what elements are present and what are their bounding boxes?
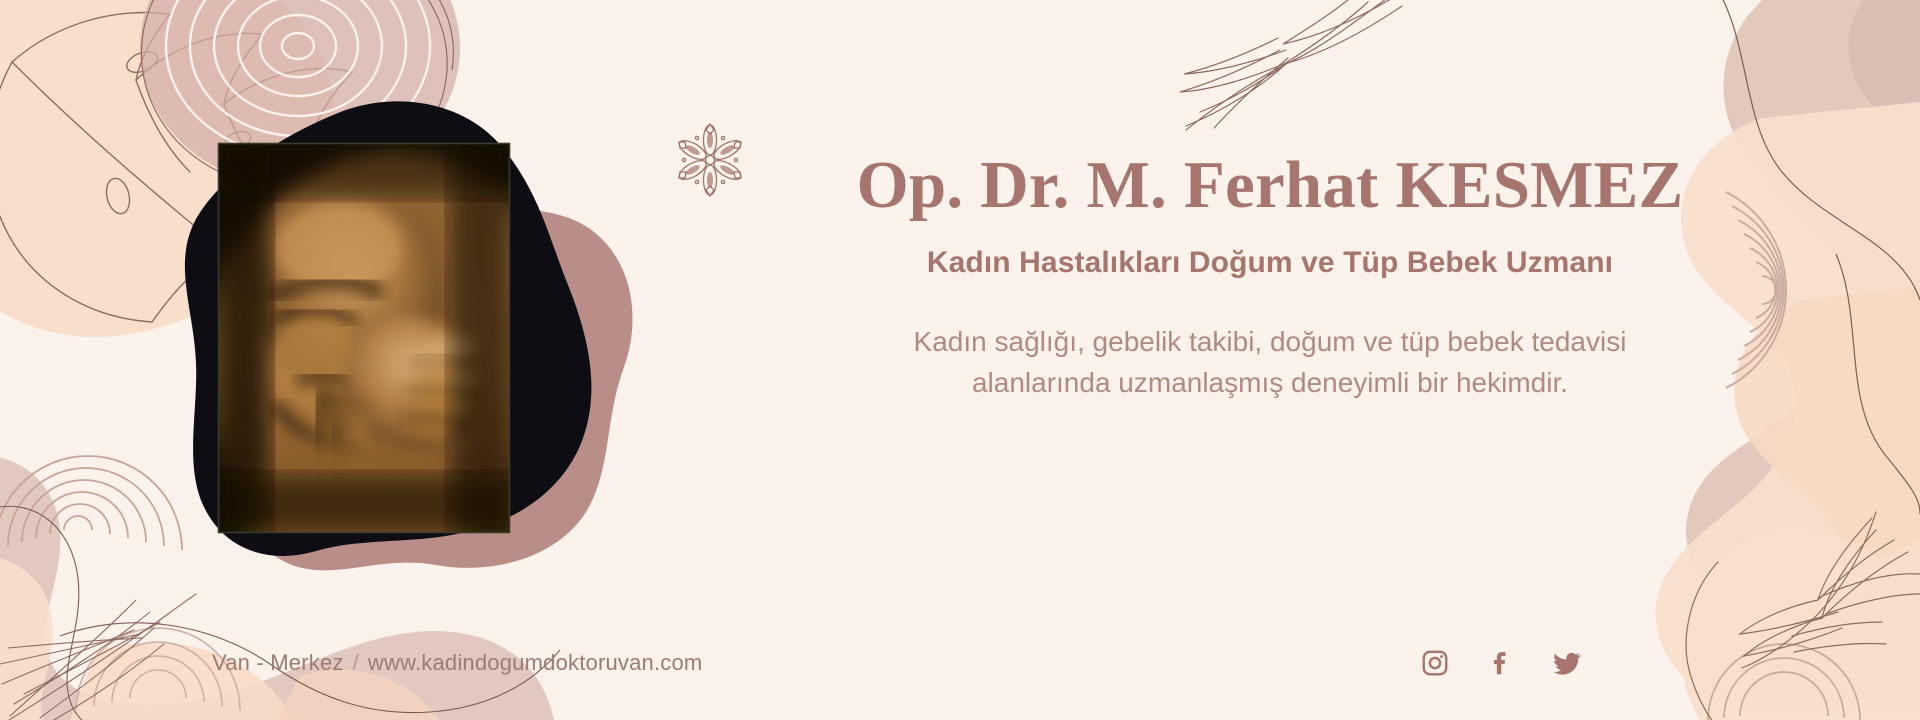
instagram-icon[interactable]: [1420, 648, 1450, 678]
location-text: Van - Merkez: [212, 650, 344, 675]
specialty-subtitle: Kadın Hastalıkları Doğum ve Tüp Bebek Uz…: [820, 246, 1720, 280]
ultrasound-image: [208, 143, 544, 591]
bio-line-1: Kadın sağlığı, gebelik takibi, doğum ve …: [914, 326, 1627, 357]
footer-contact: Van - Merkez/www.kadindogumdoktoruvan.co…: [212, 650, 702, 676]
palm-frond-sketch-top: [1180, 0, 1402, 130]
ultrasound-photo-composition: [150, 95, 670, 625]
hero-text-column: Op. Dr. M. Ferhat KESMEZ Kadın Hastalıkl…: [820, 150, 1720, 404]
mandala-flower-ornament: [676, 124, 743, 196]
bio-paragraph: Kadın sağlığı, gebelik takibi, doğum ve …: [830, 322, 1710, 403]
footer-separator: /: [353, 650, 359, 675]
twitter-icon[interactable]: [1552, 648, 1582, 678]
ultrasound-photo-canvas: [150, 95, 670, 625]
social-links: [1420, 648, 1582, 678]
page-title: Op. Dr. M. Ferhat KESMEZ: [820, 150, 1720, 220]
doctor-promo-banner: Op. Dr. M. Ferhat KESMEZ Kadın Hastalıkl…: [0, 0, 1920, 720]
facebook-icon[interactable]: [1486, 648, 1516, 678]
bio-line-2: alanlarında uzmanlaşmış deneyimli bir he…: [972, 367, 1568, 398]
website-link[interactable]: www.kadindogumdoktoruvan.com: [368, 650, 703, 675]
